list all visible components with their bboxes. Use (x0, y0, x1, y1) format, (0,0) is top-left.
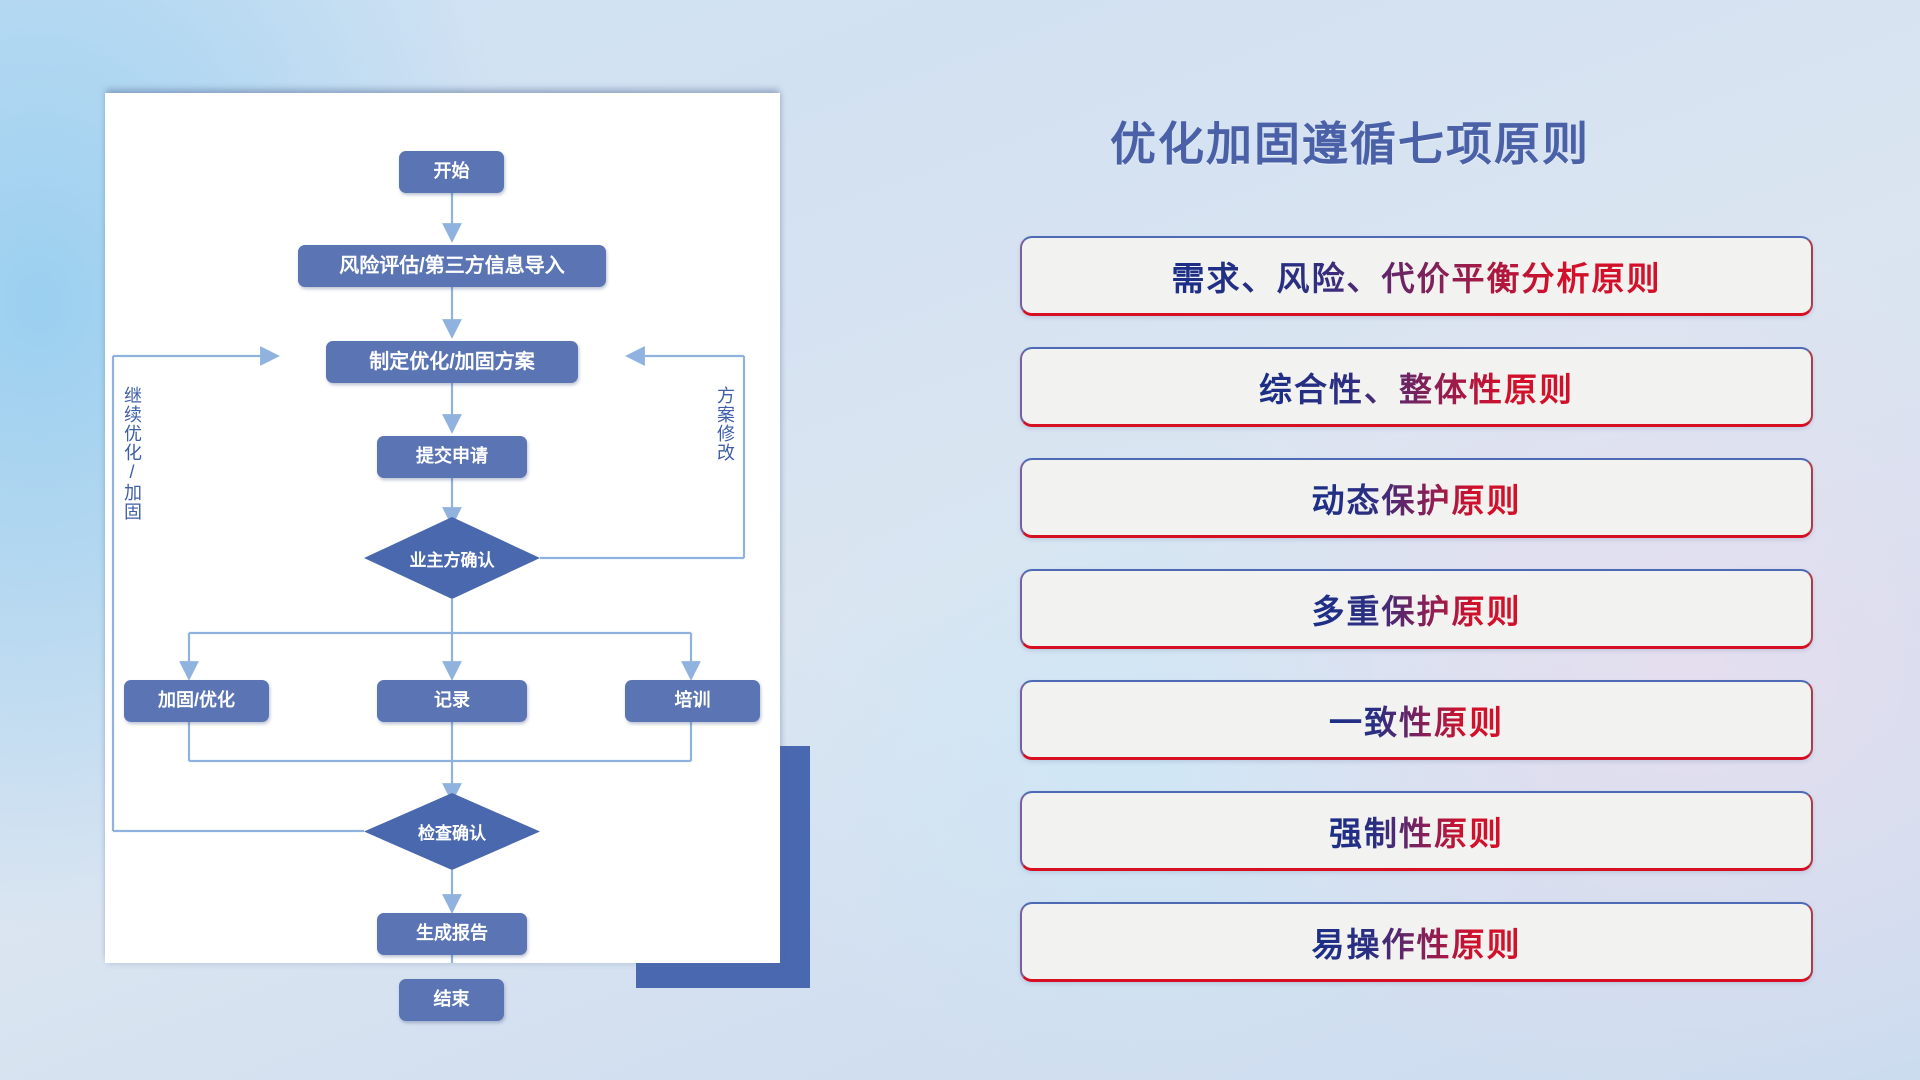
flow-node-reinforce-optimize[interactable]: 加固/优化 (124, 680, 269, 722)
flow-node-submit-application[interactable]: 提交申请 (377, 436, 527, 478)
flow-node-label: 提交申请 (416, 447, 488, 467)
flow-node-risk-assessment[interactable]: 风险评估/第三方信息导入 (298, 245, 606, 287)
principle-card-6[interactable]: 强制性原则 (1020, 791, 1813, 871)
flow-node-label: 加固/优化 (158, 691, 235, 711)
principle-label: 多重保护原则 (1312, 585, 1522, 633)
principle-label: 一致性原则 (1329, 696, 1504, 744)
principle-card-4[interactable]: 多重保护原则 (1020, 569, 1813, 649)
principle-card-5[interactable]: 一致性原则 (1020, 680, 1813, 760)
flow-node-start[interactable]: 开始 (399, 151, 504, 193)
principle-label: 强制性原则 (1329, 807, 1504, 855)
flow-node-label: 检查确认 (418, 819, 486, 844)
flow-node-label: 业主方确认 (410, 546, 495, 571)
flow-node-label: 记录 (434, 691, 470, 711)
principle-label: 动态保护原则 (1312, 474, 1522, 522)
flow-node-label: 生成报告 (416, 924, 488, 944)
flowchart-panel: 开始 风险评估/第三方信息导入 制定优化/加固方案 提交申请 业主方确认 加固/… (0, 0, 830, 1080)
flow-edge-label-continue-optimize: 继续优化/加固 (123, 386, 141, 521)
flowchart-card: 开始 风险评估/第三方信息导入 制定优化/加固方案 提交申请 业主方确认 加固/… (105, 93, 780, 963)
principle-card-1[interactable]: 需求、风险、代价平衡分析原则 (1020, 236, 1813, 316)
principle-card-7[interactable]: 易操作性原则 (1020, 902, 1813, 982)
principle-label: 易操作性原则 (1312, 918, 1522, 966)
flow-edge-label-plan-revision: 方案修改 (716, 386, 734, 462)
flow-node-label: 开始 (434, 162, 470, 182)
flow-node-label: 结束 (434, 990, 470, 1010)
flow-node-make-plan[interactable]: 制定优化/加固方案 (326, 341, 578, 383)
flow-node-label: 制定优化/加固方案 (369, 351, 535, 373)
principle-label: 需求、风险、代价平衡分析原则 (1172, 252, 1662, 300)
principles-panel: 优化加固遵循七项原则 需求、风险、代价平衡分析原则 综合性、整体性原则 动态保护… (1020, 0, 1920, 1080)
principle-label: 综合性、整体性原则 (1259, 363, 1574, 411)
flow-node-generate-report[interactable]: 生成报告 (377, 913, 527, 955)
flow-node-label: 风险评估/第三方信息导入 (339, 255, 565, 277)
flow-node-record[interactable]: 记录 (377, 680, 527, 722)
flow-node-label: 培训 (675, 691, 711, 711)
principle-card-2[interactable]: 综合性、整体性原则 (1020, 347, 1813, 427)
flow-node-training[interactable]: 培训 (625, 680, 760, 722)
flow-node-end[interactable]: 结束 (399, 979, 504, 1021)
principle-card-3[interactable]: 动态保护原则 (1020, 458, 1813, 538)
principles-title: 优化加固遵循七项原则 (1020, 108, 1680, 174)
